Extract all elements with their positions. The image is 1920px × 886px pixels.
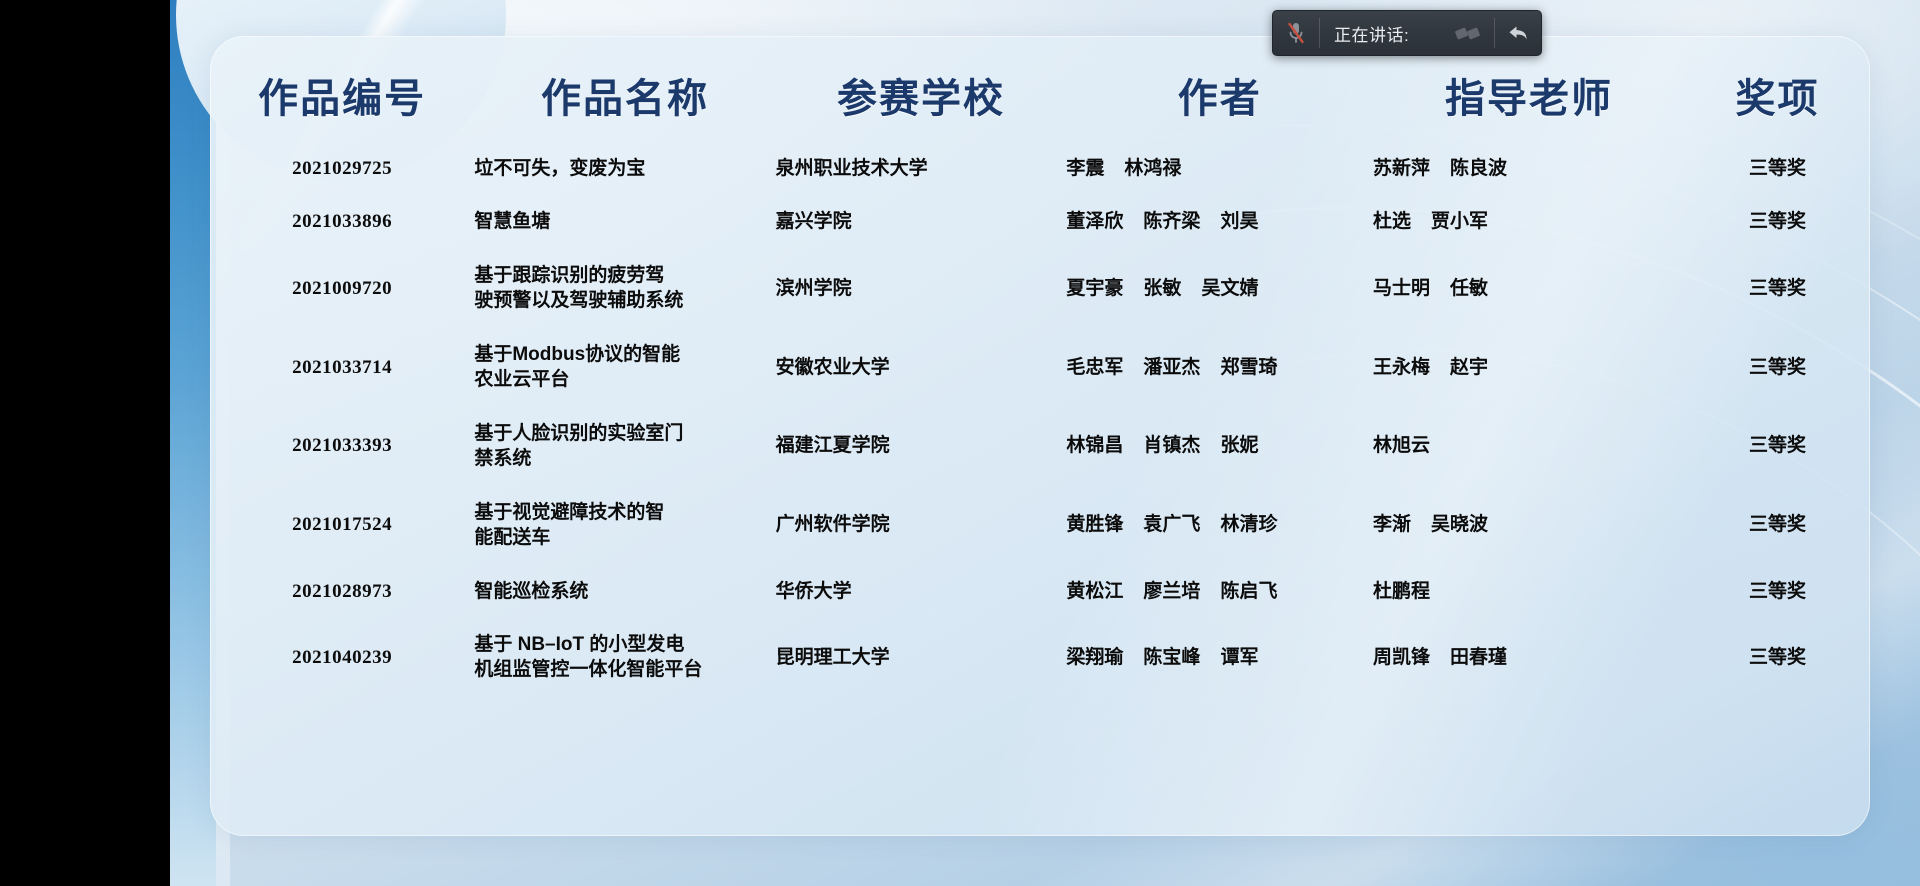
author-name: 陈齐梁	[1143, 209, 1200, 234]
work-name-line: 智能巡检系统	[474, 579, 775, 604]
column-header-award: 奖项	[1685, 36, 1870, 142]
work-name-line: 基于人脸识别的实验室门	[474, 421, 775, 446]
table-row: 2021028973智能巡检系统华侨大学黄松江廖兰培陈启飞杜鹏程三等奖	[210, 565, 1870, 618]
cell-school: 安徽农业大学	[776, 328, 1067, 407]
cell-teachers: 马士明任敏	[1373, 249, 1685, 328]
cell-authors: 黄松江廖兰培陈启飞	[1066, 565, 1373, 618]
cell-award: 三等奖	[1685, 328, 1870, 407]
teacher-name: 陈良波	[1450, 156, 1507, 181]
teacher-name: 任敏	[1450, 276, 1488, 301]
teacher-name: 李渐	[1373, 512, 1411, 537]
teacher-name: 田春瑾	[1450, 645, 1507, 670]
cell-authors: 梁翔瑜陈宝峰谭军	[1066, 618, 1373, 697]
award-table-body: 2021029725垃不可失，变废为宝泉州职业技术大学李震林鸿禄苏新萍陈良波三等…	[210, 142, 1870, 697]
cell-teachers: 李渐吴晓波	[1373, 486, 1685, 565]
cell-work-id: 2021033714	[210, 328, 474, 407]
cell-work-name: 智能巡检系统	[474, 565, 775, 618]
author-name: 林锦昌	[1066, 433, 1123, 458]
cell-school: 泉州职业技术大学	[776, 142, 1067, 195]
annotate-icon[interactable]	[1444, 11, 1494, 55]
letterbox-left	[0, 0, 170, 886]
cell-school: 嘉兴学院	[776, 195, 1067, 248]
teacher-name: 杜鹏程	[1373, 579, 1430, 604]
teacher-name: 赵宇	[1450, 355, 1488, 380]
cell-work-name: 基于 NB–IoT 的小型发电机组监管控一体化智能平台	[474, 618, 775, 697]
cell-award: 三等奖	[1685, 195, 1870, 248]
author-name: 李震	[1066, 156, 1104, 181]
cell-authors: 黄胜锋袁广飞林清珍	[1066, 486, 1373, 565]
table-row: 2021029725垃不可失，变废为宝泉州职业技术大学李震林鸿禄苏新萍陈良波三等…	[210, 142, 1870, 195]
now-speaking-toolbar[interactable]: 正在讲话:	[1272, 10, 1542, 56]
table-row: 2021017524基于视觉避障技术的智能配送车广州软件学院黄胜锋袁广飞林清珍李…	[210, 486, 1870, 565]
author-name: 吴文婧	[1201, 276, 1258, 301]
cell-award: 三等奖	[1685, 249, 1870, 328]
cell-work-id: 2021009720	[210, 249, 474, 328]
author-name: 夏宇豪	[1066, 276, 1123, 301]
author-name: 潘亚杰	[1143, 355, 1200, 380]
cell-school: 昆明理工大学	[776, 618, 1067, 697]
work-name-line: 机组监管控一体化智能平台	[474, 657, 775, 682]
cell-work-id: 2021029725	[210, 142, 474, 195]
table-row: 2021040239基于 NB–IoT 的小型发电机组监管控一体化智能平台昆明理…	[210, 618, 1870, 697]
cell-school: 华侨大学	[776, 565, 1067, 618]
author-name: 肖镇杰	[1143, 433, 1200, 458]
cell-work-name: 基于Modbus协议的智能农业云平台	[474, 328, 775, 407]
screen-root: 作品编号 作品名称 参赛学校 作者 指导老师 奖项 2021029725垃不可失…	[0, 0, 1920, 886]
work-name-line: 禁系统	[474, 446, 775, 471]
table-row: 2021033714基于Modbus协议的智能农业云平台安徽农业大学毛忠军潘亚杰…	[210, 328, 1870, 407]
table-row: 2021009720基于跟踪识别的疲劳驾驶预警以及驾驶辅助系统滨州学院夏宇豪张敏…	[210, 249, 1870, 328]
author-name: 廖兰培	[1143, 579, 1200, 604]
cell-work-name: 智慧鱼塘	[474, 195, 775, 248]
author-name: 袁广飞	[1143, 512, 1200, 537]
work-name-line: 智慧鱼塘	[474, 209, 775, 234]
cell-award: 三等奖	[1685, 565, 1870, 618]
microphone-muted-icon[interactable]	[1273, 11, 1319, 55]
cell-authors: 林锦昌肖镇杰张妮	[1066, 407, 1373, 486]
teacher-name: 苏新萍	[1373, 156, 1430, 181]
cell-authors: 夏宇豪张敏吴文婧	[1066, 249, 1373, 328]
cell-work-id: 2021033393	[210, 407, 474, 486]
cell-work-name: 基于跟踪识别的疲劳驾驶预警以及驾驶辅助系统	[474, 249, 775, 328]
award-table: 作品编号 作品名称 参赛学校 作者 指导老师 奖项 2021029725垃不可失…	[210, 36, 1870, 697]
author-name: 陈启飞	[1220, 579, 1277, 604]
author-name: 林清珍	[1220, 512, 1277, 537]
slide-content-card: 作品编号 作品名称 参赛学校 作者 指导老师 奖项 2021029725垃不可失…	[210, 36, 1870, 836]
award-table-head: 作品编号 作品名称 参赛学校 作者 指导老师 奖项	[210, 36, 1870, 142]
now-speaking-label: 正在讲话:	[1320, 11, 1444, 55]
cell-teachers: 苏新萍陈良波	[1373, 142, 1685, 195]
teacher-name: 贾小军	[1431, 209, 1488, 234]
cell-work-id: 2021017524	[210, 486, 474, 565]
cell-authors: 李震林鸿禄	[1066, 142, 1373, 195]
table-row: 2021033896智慧鱼塘嘉兴学院董泽欣陈齐梁刘昊杜选贾小军三等奖	[210, 195, 1870, 248]
cell-teachers: 王永梅赵宇	[1373, 328, 1685, 407]
teacher-name: 杜选	[1373, 209, 1411, 234]
cell-work-id: 2021040239	[210, 618, 474, 697]
back-arrow-icon[interactable]	[1495, 11, 1541, 55]
author-name: 梁翔瑜	[1066, 645, 1123, 670]
author-name: 毛忠军	[1066, 355, 1123, 380]
work-name-line: 能配送车	[474, 525, 775, 550]
work-name-line: 垃不可失，变废为宝	[474, 156, 775, 181]
cell-authors: 毛忠军潘亚杰郑雪琦	[1066, 328, 1373, 407]
column-header-school: 参赛学校	[776, 36, 1067, 142]
cell-school: 福建江夏学院	[776, 407, 1067, 486]
cell-work-name: 基于人脸识别的实验室门禁系统	[474, 407, 775, 486]
cell-work-name: 垃不可失，变废为宝	[474, 142, 775, 195]
author-name: 张妮	[1220, 433, 1258, 458]
author-name: 郑雪琦	[1220, 355, 1277, 380]
author-name: 黄松江	[1066, 579, 1123, 604]
teacher-name: 林旭云	[1373, 433, 1430, 458]
cell-award: 三等奖	[1685, 486, 1870, 565]
table-row: 2021033393基于人脸识别的实验室门禁系统福建江夏学院林锦昌肖镇杰张妮林旭…	[210, 407, 1870, 486]
cell-work-name: 基于视觉避障技术的智能配送车	[474, 486, 775, 565]
teacher-name: 周凯锋	[1373, 645, 1430, 670]
author-name: 谭军	[1220, 645, 1258, 670]
work-name-line: 基于Modbus协议的智能	[474, 342, 775, 367]
cell-work-id: 2021028973	[210, 565, 474, 618]
work-name-line: 基于跟踪识别的疲劳驾	[474, 263, 775, 288]
author-name: 张敏	[1143, 276, 1181, 301]
cell-award: 三等奖	[1685, 142, 1870, 195]
cell-school: 广州软件学院	[776, 486, 1067, 565]
teacher-name: 吴晓波	[1431, 512, 1488, 537]
cell-teachers: 杜鹏程	[1373, 565, 1685, 618]
table-header-row: 作品编号 作品名称 参赛学校 作者 指导老师 奖项	[210, 36, 1870, 142]
author-name: 黄胜锋	[1066, 512, 1123, 537]
author-name: 刘昊	[1220, 209, 1258, 234]
work-name-line: 基于视觉避障技术的智	[474, 500, 775, 525]
author-name: 董泽欣	[1066, 209, 1123, 234]
cell-award: 三等奖	[1685, 618, 1870, 697]
cell-teachers: 周凯锋田春瑾	[1373, 618, 1685, 697]
cell-teachers: 林旭云	[1373, 407, 1685, 486]
shared-slide-stage: 作品编号 作品名称 参赛学校 作者 指导老师 奖项 2021029725垃不可失…	[170, 0, 1920, 886]
author-name: 林鸿禄	[1124, 156, 1181, 181]
cell-work-id: 2021033896	[210, 195, 474, 248]
author-name: 陈宝峰	[1143, 645, 1200, 670]
cell-authors: 董泽欣陈齐梁刘昊	[1066, 195, 1373, 248]
work-name-line: 基于 NB–IoT 的小型发电	[474, 632, 775, 657]
teacher-name: 王永梅	[1373, 355, 1430, 380]
work-name-line: 驶预警以及驾驶辅助系统	[474, 288, 775, 313]
teacher-name: 马士明	[1373, 276, 1430, 301]
column-header-id: 作品编号	[210, 36, 474, 142]
cell-school: 滨州学院	[776, 249, 1067, 328]
work-name-line: 农业云平台	[474, 367, 775, 392]
cell-teachers: 杜选贾小军	[1373, 195, 1685, 248]
column-header-name: 作品名称	[474, 36, 775, 142]
cell-award: 三等奖	[1685, 407, 1870, 486]
